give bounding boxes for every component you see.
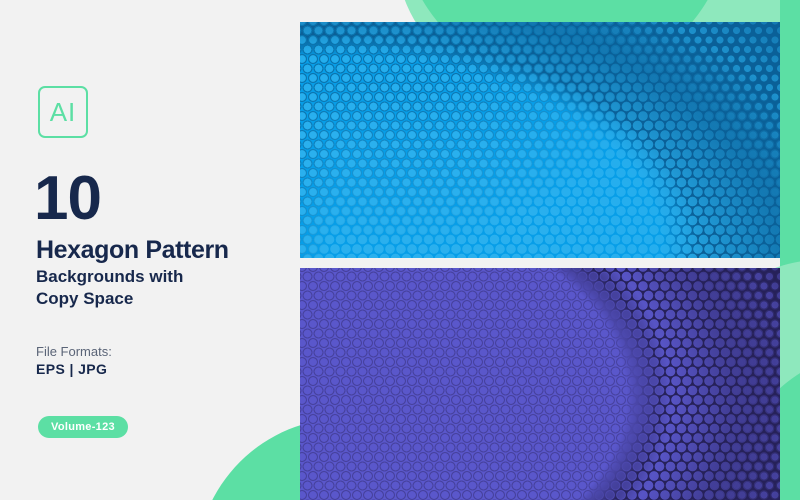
page-subtitle-line-2: Copy Space bbox=[36, 288, 183, 310]
file-formats-value: EPS | JPG bbox=[36, 361, 107, 377]
page-title: Hexagon Pattern bbox=[36, 236, 229, 265]
poster-canvas: AI 10 Hexagon Pattern Backgrounds with C… bbox=[0, 0, 800, 500]
preview-card-purple[interactable] bbox=[300, 268, 780, 500]
volume-badge: Volume-123 bbox=[38, 416, 128, 438]
item-count: 10 bbox=[34, 168, 101, 230]
ai-format-badge: AI bbox=[38, 86, 88, 138]
purple-dark-region bbox=[300, 268, 780, 500]
page-subtitle: Backgrounds with Copy Space bbox=[36, 266, 183, 310]
blue-dark-region bbox=[300, 22, 780, 258]
info-column: AI 10 Hexagon Pattern Backgrounds with C… bbox=[0, 0, 300, 500]
file-formats-label: File Formats: bbox=[36, 344, 112, 359]
preview-card-blue[interactable] bbox=[300, 22, 780, 258]
page-subtitle-line-1: Backgrounds with bbox=[36, 266, 183, 288]
